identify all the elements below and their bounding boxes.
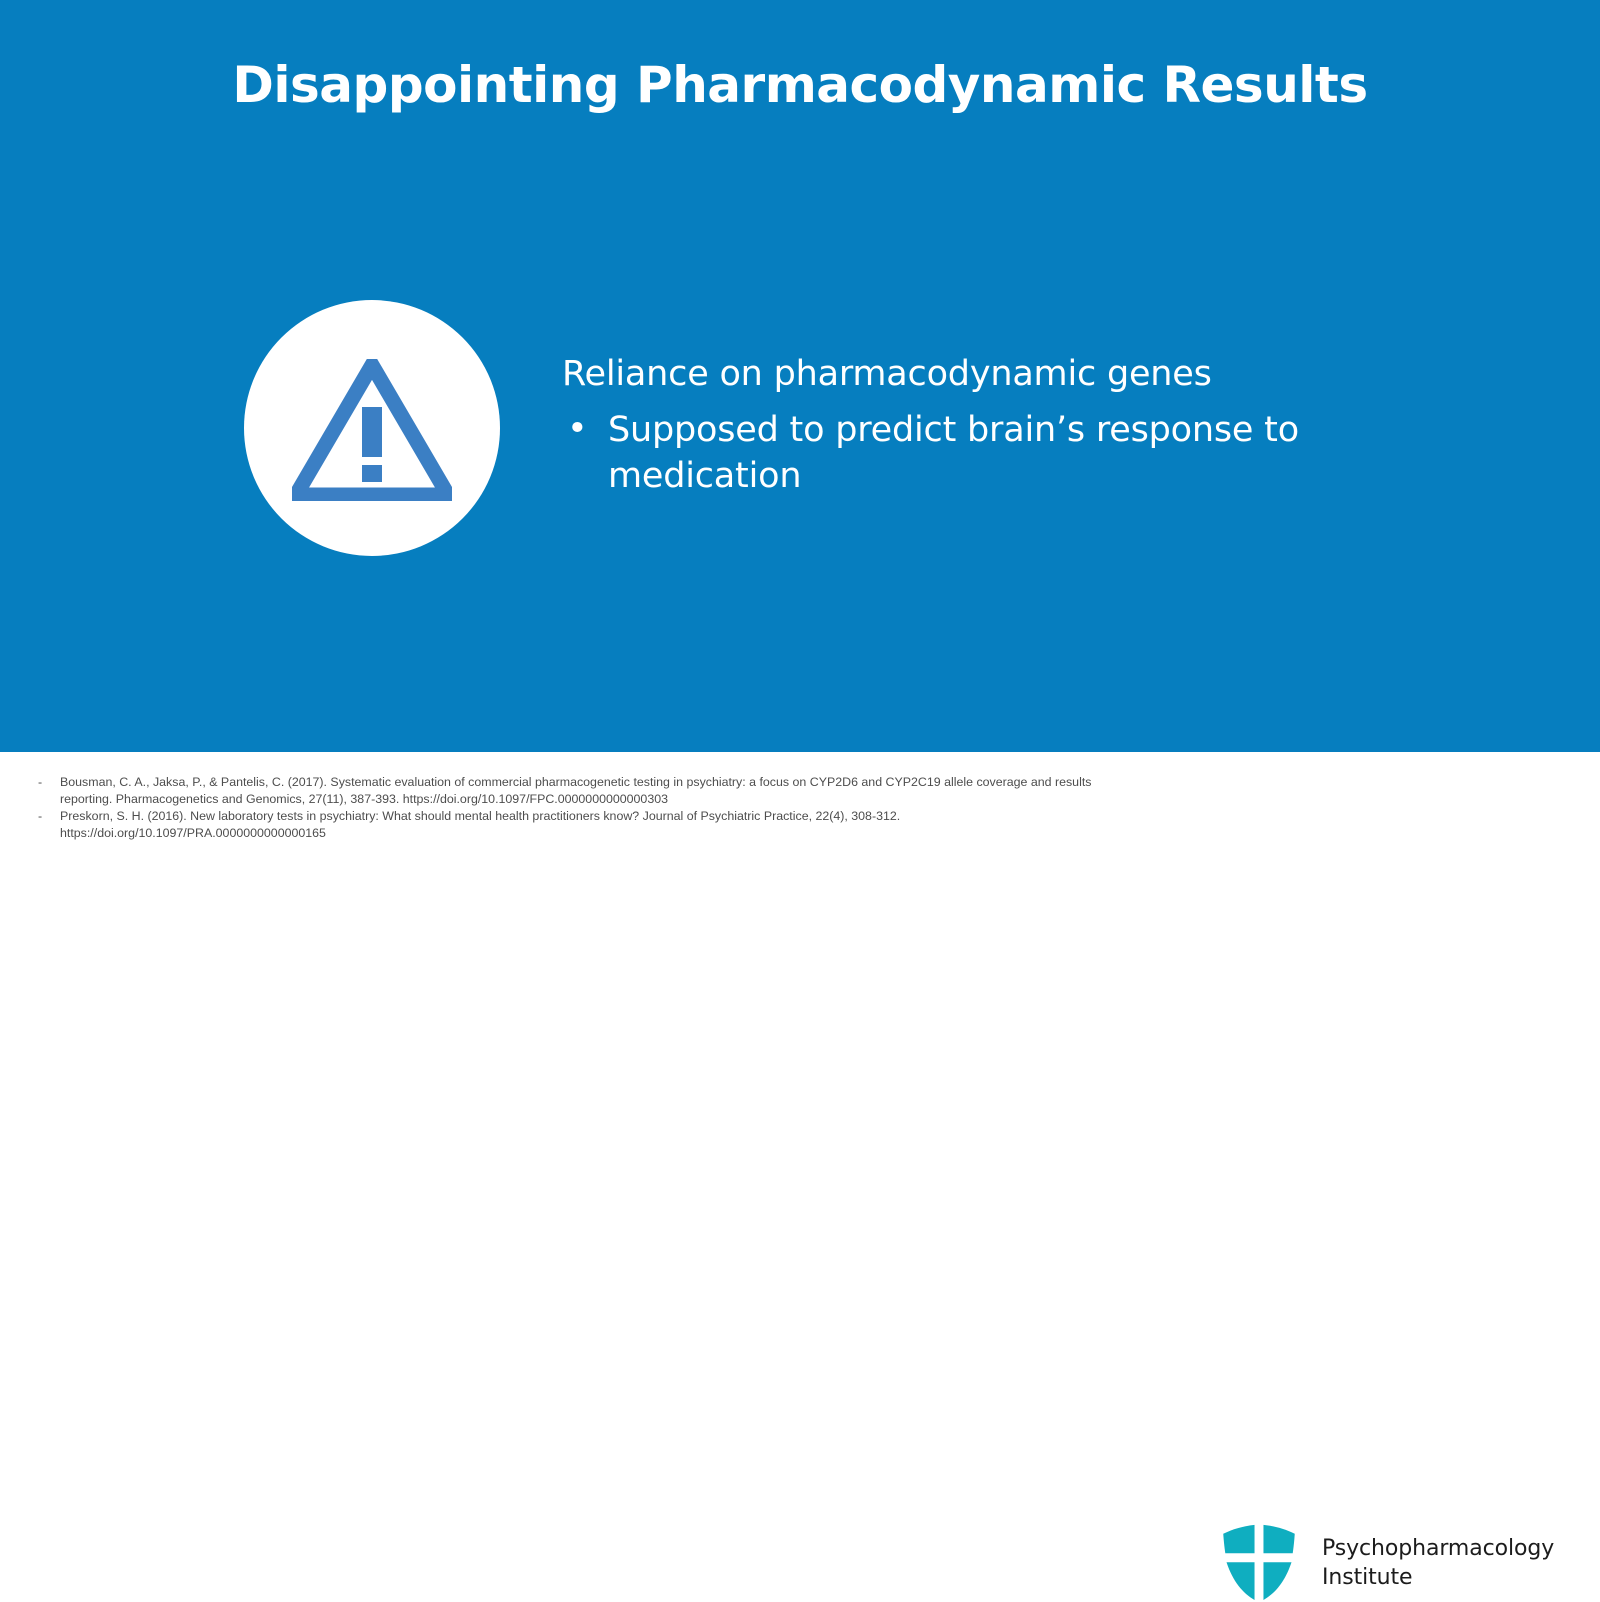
reference-dash-marker: - (38, 774, 60, 791)
warning-triangle-icon (292, 359, 452, 501)
brand-name-line2: Institute (1322, 1563, 1554, 1592)
warning-icon-badge (244, 300, 500, 556)
reference-item: - Bousman, C. A., Jaksa, P., & Pantelis,… (38, 774, 1118, 807)
bullet-list-item: • Supposed to predict brain’s response t… (562, 407, 1322, 499)
reference-item: - Preskorn, S. H. (2016). New laboratory… (38, 808, 1118, 841)
reference-dash-marker: - (38, 808, 60, 825)
reference-text: Preskorn, S. H. (2016). New laboratory t… (60, 808, 1118, 841)
brand-name-line1: Psychopharmacology (1322, 1534, 1554, 1563)
page-title: Disappointing Pharmacodynamic Results (0, 58, 1600, 113)
reference-text: Bousman, C. A., Jaksa, P., & Pantelis, C… (60, 774, 1118, 807)
lead-statement: Reliance on pharmacodynamic genes (562, 352, 1322, 397)
body-content: Reliance on pharmacodynamic genes • Supp… (562, 352, 1322, 499)
bullet-item-text: Supposed to predict brain’s response to … (608, 407, 1322, 499)
slide-footer: - Bousman, C. A., Jaksa, P., & Pantelis,… (0, 752, 1600, 899)
slide-root: Disappointing Pharmacodynamic Results Re… (0, 0, 1600, 899)
shield-cross-logo-icon (1218, 1524, 1300, 1602)
slide-content-panel: Disappointing Pharmacodynamic Results Re… (0, 0, 1600, 752)
brand-name: Psychopharmacology Institute (1322, 1534, 1554, 1592)
bullet-marker-icon: • (562, 407, 608, 453)
reference-list: - Bousman, C. A., Jaksa, P., & Pantelis,… (38, 774, 1118, 843)
brand-logo: Psychopharmacology Institute (1218, 1524, 1554, 1602)
